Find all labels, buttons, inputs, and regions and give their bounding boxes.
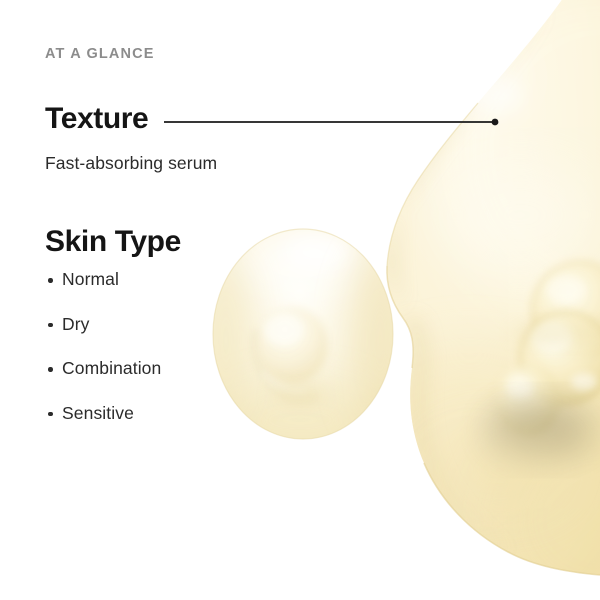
skin-type-heading: Skin Type [45, 226, 365, 258]
texture-block: Texture Fast-absorbing serum [45, 103, 365, 174]
skin-type-list: Normal Dry Combination Sensitive [45, 258, 365, 422]
bullet-icon [48, 367, 53, 372]
section-eyebrow: AT A GLANCE [45, 47, 155, 62]
list-item-label: Combination [62, 358, 161, 378]
skin-type-block: Skin Type Normal Dry Combination Sensiti… [45, 226, 365, 422]
list-item: Combination [45, 360, 365, 378]
at-a-glance-panel: AT A GLANCE Texture Fast-absorbing serum… [0, 0, 600, 600]
list-item: Dry [45, 316, 365, 334]
texture-value: Fast-absorbing serum [45, 135, 365, 174]
list-item: Sensitive [45, 405, 365, 423]
bullet-icon [48, 412, 53, 417]
texture-heading: Texture [45, 103, 365, 135]
text-content: AT A GLANCE Texture Fast-absorbing serum… [0, 0, 600, 600]
bullet-icon [48, 323, 53, 328]
list-item-label: Sensitive [62, 403, 134, 423]
list-item-label: Normal [62, 269, 119, 289]
bullet-icon [48, 278, 53, 283]
list-item: Normal [45, 271, 365, 289]
list-item-label: Dry [62, 314, 90, 334]
